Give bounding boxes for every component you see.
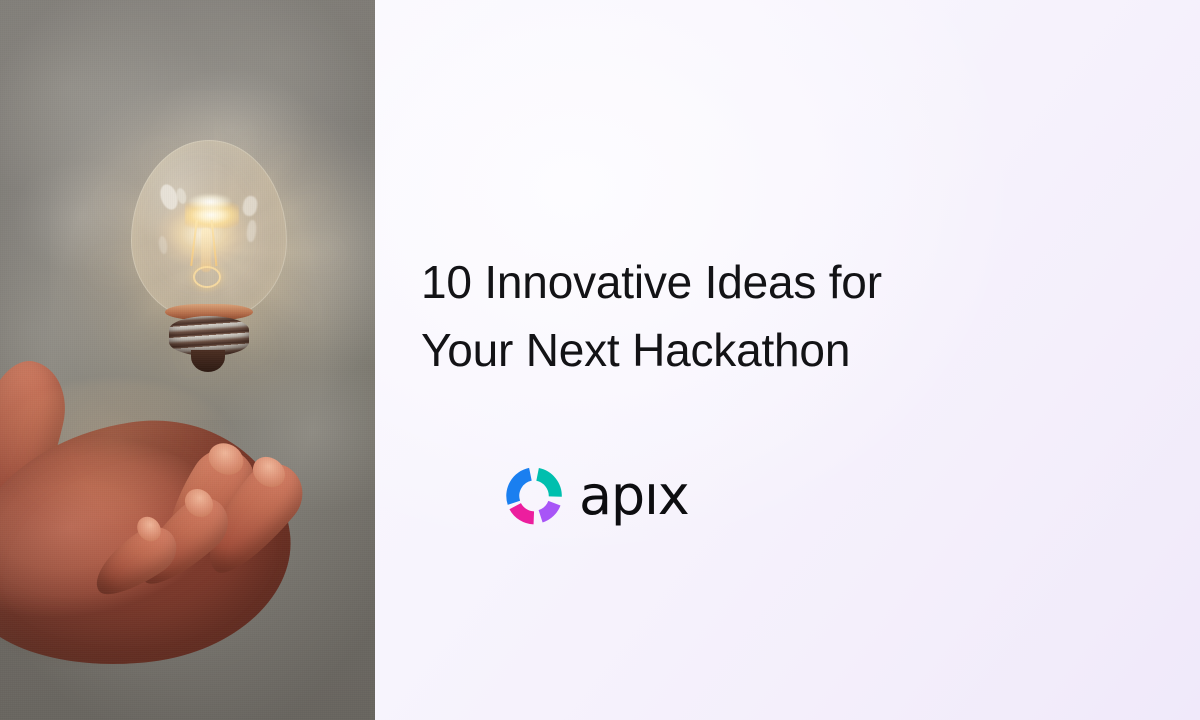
ring-segment-top-left	[513, 474, 531, 503]
glass-highlight	[158, 236, 168, 255]
hand-warm-light	[0, 380, 240, 530]
glass-highlight	[157, 182, 180, 212]
bulb-glass	[131, 140, 287, 320]
headline-line-1: 10 Innovative Ideas for	[421, 248, 1121, 316]
glass-highlight	[241, 195, 258, 217]
lightbulb-icon	[131, 140, 287, 350]
ring-segment-bottom-right	[541, 503, 555, 516]
ring-segment-bottom-left	[515, 506, 534, 518]
open-hand	[0, 360, 375, 720]
apix-ring-icon	[505, 466, 565, 526]
apix-wordmark: apıx	[579, 469, 689, 523]
filament-spark	[189, 194, 231, 210]
page-title: 10 Innovative Ideas for Your Next Hackat…	[421, 248, 1121, 384]
filament-glow	[185, 202, 239, 228]
ring-segment-top-right	[538, 474, 556, 496]
brand-logo: apıx	[505, 466, 689, 526]
filament-stem	[201, 228, 211, 272]
content-panel: 10 Innovative Ideas for Your Next Hackat…	[375, 0, 1200, 720]
glass-highlight	[246, 220, 257, 243]
filament-wire	[190, 220, 198, 266]
filament-coil	[193, 266, 221, 288]
hero-image-panel	[0, 0, 375, 720]
filament-wire	[211, 220, 218, 266]
blog-banner: 10 Innovative Ideas for Your Next Hackat…	[0, 0, 1200, 720]
glass-highlight	[175, 187, 188, 205]
headline-line-2: Your Next Hackathon	[421, 316, 1121, 384]
